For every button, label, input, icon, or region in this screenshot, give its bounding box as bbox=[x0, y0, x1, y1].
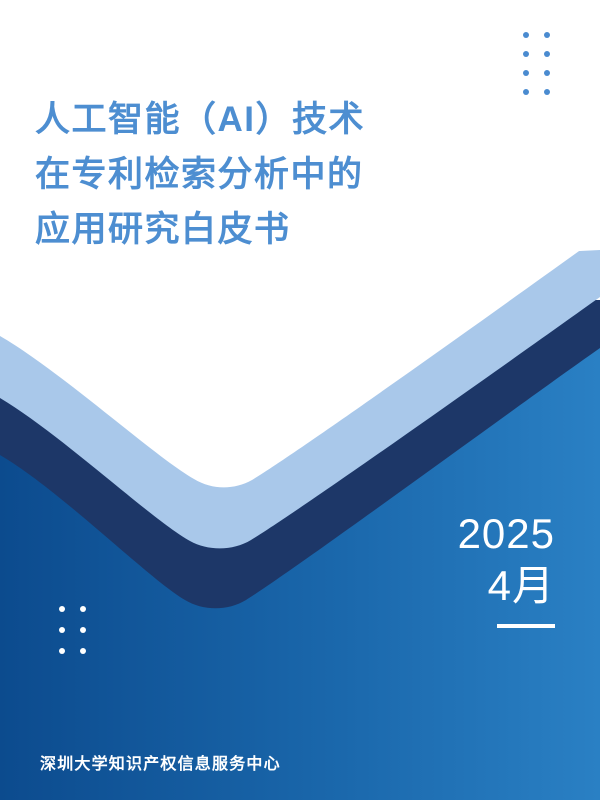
dot-icon bbox=[523, 32, 529, 38]
title-line-3: 应用研究白皮书 bbox=[35, 202, 465, 257]
publication-date: 2025 4月 bbox=[458, 508, 555, 628]
date-month: 4月 bbox=[458, 560, 555, 612]
dot-icon bbox=[80, 648, 86, 654]
page-title: 人工智能（AI）技术 在专利检索分析中的 应用研究白皮书 bbox=[35, 92, 465, 257]
dot-grid-decoration-top-right bbox=[523, 32, 565, 108]
title-line-1: 人工智能（AI）技术 bbox=[35, 92, 465, 147]
dot-grid-decoration-bottom-left bbox=[59, 606, 101, 669]
dot-icon bbox=[523, 70, 529, 76]
dot-icon bbox=[523, 51, 529, 57]
dot-icon bbox=[544, 51, 550, 57]
dot-icon bbox=[544, 32, 550, 38]
dot-icon bbox=[544, 70, 550, 76]
dot-icon bbox=[523, 89, 529, 95]
date-year: 2025 bbox=[458, 508, 555, 560]
dot-icon bbox=[544, 89, 550, 95]
dot-icon bbox=[59, 606, 65, 612]
document-cover: 人工智能（AI）技术 在专利检索分析中的 应用研究白皮书 2025 4月 深圳大… bbox=[0, 0, 600, 800]
dot-icon bbox=[59, 627, 65, 633]
dot-icon bbox=[59, 648, 65, 654]
date-underline-rule bbox=[497, 624, 555, 628]
publisher-organization: 深圳大学知识产权信息服务中心 bbox=[40, 750, 281, 774]
dot-icon bbox=[80, 606, 86, 612]
title-line-2: 在专利检索分析中的 bbox=[35, 147, 465, 202]
dot-icon bbox=[80, 627, 86, 633]
